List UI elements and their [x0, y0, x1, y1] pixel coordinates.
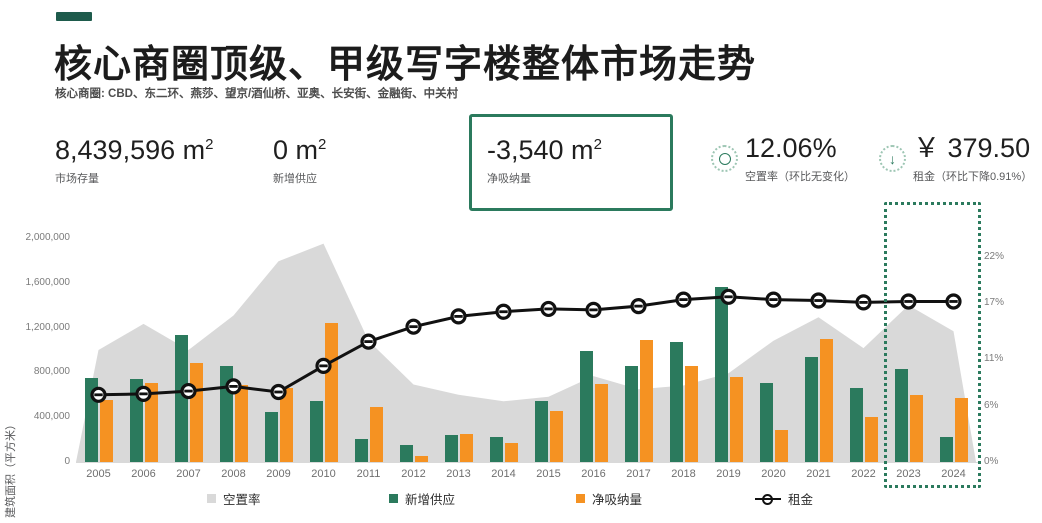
kpi-new-supply-value: 0 m2 — [273, 136, 326, 164]
x-axis-tick-label: 2005 — [77, 468, 121, 480]
x-axis-labels: 2005200620072008200920102011201220132014… — [76, 466, 976, 488]
kpi-market-stock: 8,439,596 m2 市场存量 — [55, 136, 213, 186]
legend-swatch-net-absorption-icon — [576, 494, 585, 503]
rent-line-series — [76, 238, 976, 462]
kpi-vacancy-rate: 12.06% 空置率（环比无变化） — [745, 134, 855, 184]
legend-label-vacancy: 空置率 — [223, 489, 261, 508]
kpi-net-absorption-value: -3,540 m2 — [487, 136, 602, 164]
x-axis-tick-label: 2009 — [257, 468, 301, 480]
x-axis-line — [76, 462, 979, 463]
rent-data-point — [677, 293, 690, 306]
y-axis-tick-label: 0 — [8, 456, 70, 467]
y2-axis-tick-label: 17% — [984, 297, 1004, 308]
rent-data-point — [182, 385, 195, 398]
x-axis-tick-label: 2006 — [122, 468, 166, 480]
x-axis-tick-label: 2008 — [212, 468, 256, 480]
rent-data-point — [272, 386, 285, 399]
y-axis-tick-label: 800,000 — [8, 366, 70, 377]
rent-data-point — [902, 295, 915, 308]
rent-data-point — [227, 380, 240, 393]
rent-data-point — [587, 303, 600, 316]
rent-data-point — [92, 388, 105, 401]
legend-label-new-supply: 新增供应 — [405, 489, 455, 508]
brand-accent-dash — [56, 12, 92, 21]
x-axis-tick-label: 2013 — [437, 468, 481, 480]
y-axis-tick-label: 400,000 — [8, 411, 70, 422]
rent-data-point — [947, 295, 960, 308]
kpi-rent-label: 租金（环比下降0.91%） — [913, 168, 1032, 184]
plot-area — [76, 238, 976, 462]
rent-data-point — [452, 310, 465, 323]
kpi-rent-value: ￥ 379.50 — [913, 134, 1032, 162]
page-title: 核心商圈顶级、甲级写字楼整体市场走势 — [54, 33, 756, 88]
x-axis-tick-label: 2023 — [887, 468, 931, 480]
legend-item-new-supply[interactable]: 新增供应 — [389, 489, 455, 508]
dashboard-root: 核心商圈顶级、甲级写字楼整体市场走势 核心商圈: CBD、东二环、燕莎、望京/酒… — [0, 0, 1042, 523]
x-axis-tick-label: 2017 — [617, 468, 661, 480]
x-axis-tick-label: 2010 — [302, 468, 346, 480]
y2-axis-tick-label: 0% — [984, 456, 998, 467]
kpi-vacancy-rate-value: 12.06% — [745, 134, 855, 162]
y2-axis-tick-label: 11% — [984, 353, 1003, 364]
x-axis-tick-label: 2011 — [347, 468, 391, 480]
page-subtitle: 核心商圈: CBD、东二环、燕莎、望京/酒仙桥、亚奥、长安街、金融街、中关村 — [55, 85, 458, 101]
legend-swatch-new-supply-icon — [389, 494, 398, 503]
arrow-down-icon: ↓ — [879, 145, 906, 172]
x-axis-tick-label: 2022 — [842, 468, 886, 480]
legend-item-rent[interactable]: 租金 — [755, 489, 813, 508]
y-axis-tick-label: 1,600,000 — [8, 277, 70, 288]
rent-data-point — [542, 302, 555, 315]
x-axis-tick-label: 2024 — [932, 468, 976, 480]
rent-data-point — [632, 300, 645, 313]
x-axis-tick-label: 2007 — [167, 468, 211, 480]
x-axis-tick-label: 2016 — [572, 468, 616, 480]
kpi-new-supply-label: 新增供应 — [273, 170, 326, 186]
kpi-market-stock-value: 8,439,596 m2 — [55, 136, 213, 164]
rent-data-point — [812, 294, 825, 307]
y-axis-tick-label: 2,000,000 — [8, 232, 70, 243]
x-axis-tick-label: 2021 — [797, 468, 841, 480]
rent-line-path — [99, 297, 954, 395]
legend-item-net-absorption[interactable]: 净吸纳量 — [576, 489, 642, 508]
x-axis-tick-label: 2019 — [707, 468, 751, 480]
x-axis-tick-label: 2012 — [392, 468, 436, 480]
x-axis-tick-label: 2015 — [527, 468, 571, 480]
kpi-market-stock-label: 市场存量 — [55, 170, 213, 186]
rent-data-point — [137, 387, 150, 400]
kpi-new-supply: 0 m2 新增供应 — [273, 136, 326, 186]
rent-data-point — [767, 293, 780, 306]
y-axis-tick-label: 1,200,000 — [8, 322, 70, 333]
x-axis-tick-label: 2018 — [662, 468, 706, 480]
chart-legend: 空置率 新增供应 净吸纳量 租金 — [0, 489, 1042, 519]
legend-swatch-vacancy-icon — [207, 494, 216, 503]
rent-data-point — [407, 320, 420, 333]
kpi-net-absorption-label: 净吸纳量 — [487, 170, 602, 186]
rent-data-point — [317, 359, 330, 372]
legend-label-net-absorption: 净吸纳量 — [592, 489, 642, 508]
kpi-rent: ￥ 379.50 租金（环比下降0.91%） — [913, 134, 1032, 184]
y2-axis-tick-label: 22% — [984, 251, 1004, 262]
legend-line-marker-icon — [755, 493, 781, 505]
kpi-net-absorption: -3,540 m2 净吸纳量 — [487, 136, 602, 186]
kpi-vacancy-rate-label: 空置率（环比无变化） — [745, 168, 855, 184]
x-axis-tick-label: 2020 — [752, 468, 796, 480]
legend-label-rent: 租金 — [788, 489, 813, 508]
rent-data-point — [362, 335, 375, 348]
circle-icon — [711, 145, 738, 172]
x-axis-tick-label: 2014 — [482, 468, 526, 480]
y2-axis-tick-label: 6% — [984, 400, 998, 411]
rent-data-point — [857, 296, 870, 309]
rent-data-point — [497, 305, 510, 318]
legend-item-vacancy[interactable]: 空置率 — [207, 489, 261, 508]
rent-data-point — [722, 290, 735, 303]
